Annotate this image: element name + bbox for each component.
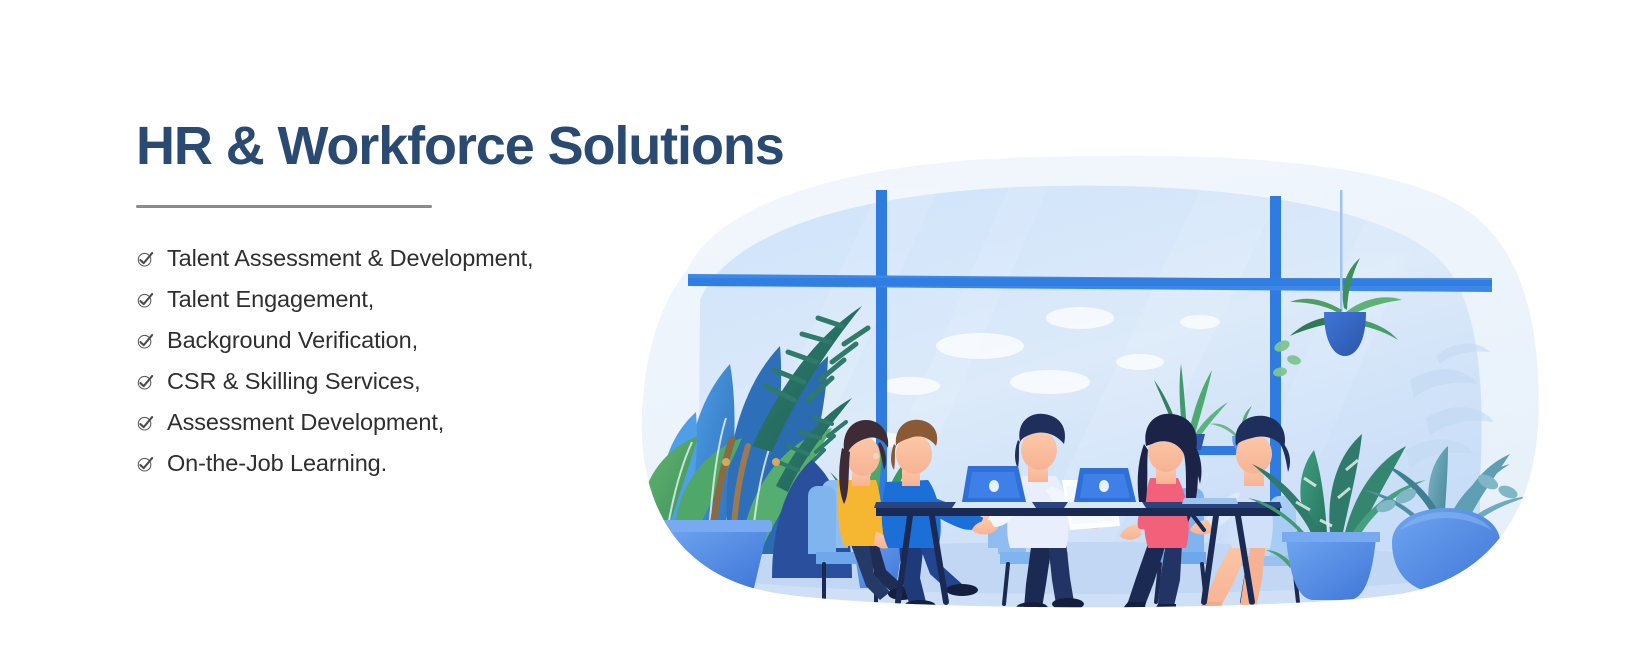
list-item-label: Talent Assessment & Development, [167,245,533,272]
hr-workforce-solutions-banner: HR & Workforce Solutions Talent Assessme… [0,0,1650,650]
check-circle-icon [136,332,155,351]
list-item-label: Talent Engagement, [167,286,374,313]
list-item-label: CSR & Skilling Services, [167,368,421,395]
list-item-label: Assessment Development, [167,409,444,436]
check-circle-icon [136,373,155,392]
check-circle-icon [136,250,155,269]
check-circle-icon [136,414,155,433]
office-team-meeting-illustration [580,150,1580,610]
title-divider [136,205,432,208]
check-circle-icon [136,291,155,310]
list-item-label: Background Verification, [167,327,418,354]
check-circle-icon [136,455,155,474]
notebook [1182,498,1238,504]
list-item-label: On-the-Job Learning. [167,450,387,477]
